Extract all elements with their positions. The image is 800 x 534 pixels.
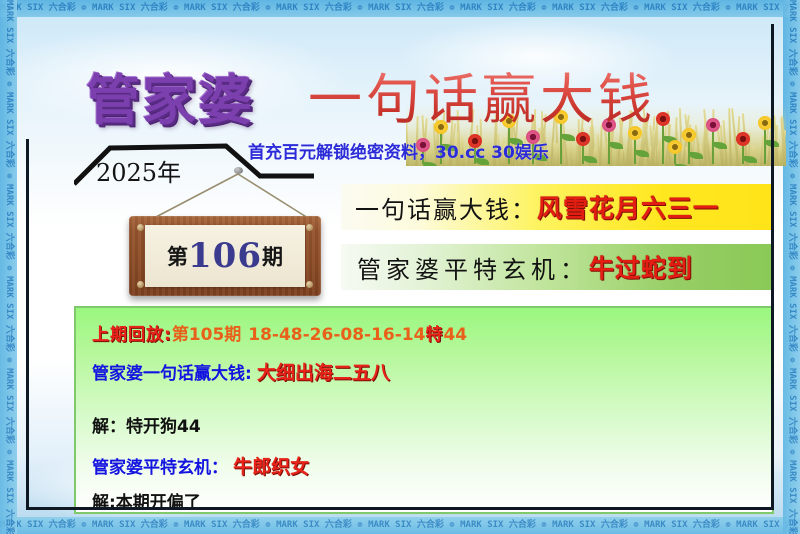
issue-number: 106 xyxy=(188,236,262,276)
main-panel: 管家婆 一句话赢大钱 首充百元解锁绝密资料，30.cc 30娱乐 2025年 第… xyxy=(26,24,774,510)
banner-1-value: 风雪花月六三一 xyxy=(537,189,719,225)
flower-icon xyxy=(656,112,670,126)
replay-special-prefix: 特 xyxy=(425,325,443,345)
wooden-sign: 第106期 xyxy=(129,216,321,296)
poster-stage: MARK SIX 六合彩 ❁ MARK SIX 六合彩 ❁ MARK SIX 六… xyxy=(0,0,800,534)
replay-special-number: 44 xyxy=(443,325,467,345)
flower-leaf xyxy=(765,140,779,147)
flower-icon xyxy=(668,140,682,154)
issue-number-display: 第106期 xyxy=(145,236,305,276)
flower-stem xyxy=(764,128,766,164)
replay-row: 上期回放:第105期 18-48-26-08-16-14特44 xyxy=(92,320,467,345)
flower-icon xyxy=(736,132,750,146)
line2-value: 大细出海二五八 xyxy=(257,362,390,384)
grass-blade xyxy=(553,142,555,166)
replay-issue: 第105期 xyxy=(172,325,242,345)
grass-blade xyxy=(556,142,558,166)
flower-icon xyxy=(758,116,772,130)
watermark-right: MARK SIX 六合彩 ❁ MARK SIX 六合彩 ❁ MARK SIX 六… xyxy=(783,0,800,534)
flower-stem xyxy=(742,144,744,164)
previous-results-box: 上期回放:第105期 18-48-26-08-16-14特44 管家婆一句话赢大… xyxy=(74,306,774,514)
banner-forecast-phrase: 一句话赢大钱： 风雪花月六三一 xyxy=(341,184,771,230)
screw-icon-tl xyxy=(137,224,144,231)
watermark-top: MARK SIX 六合彩 ❁ MARK SIX 六合彩 ❁ MARK SIX 六… xyxy=(0,0,800,17)
line4-value: 牛郎织女 xyxy=(233,456,309,478)
watermark-bottom: MARK SIX 六合彩 ❁ MARK SIX 六合彩 ❁ MARK SIX 六… xyxy=(0,517,800,534)
page-title-brand: 管家婆 xyxy=(86,56,254,135)
flower-leaf xyxy=(583,156,597,163)
banner-2-label: 管家婆平特玄机： xyxy=(341,250,589,285)
grass-blade xyxy=(569,142,573,166)
flower-stem xyxy=(608,130,610,164)
nail-icon xyxy=(234,167,243,174)
flower-stem xyxy=(662,124,664,164)
line2-label: 管家婆一句话赢大钱: xyxy=(92,364,252,384)
sign-paper: 第106期 xyxy=(145,225,305,287)
watermark-right-text: MARK SIX 六合彩 ❁ MARK SIX 六合彩 ❁ MARK SIX 六… xyxy=(783,0,800,534)
banner-1-label: 一句话赢大钱： xyxy=(341,190,537,225)
line3-text: 解：特开狗44 xyxy=(92,417,201,437)
line4-label: 管家婆平特玄机： xyxy=(92,458,228,478)
line5-text: 解:本期开偏了 xyxy=(92,493,201,513)
screw-icon-br xyxy=(306,281,313,288)
replay-numbers: 18-48-26-08-16-14 xyxy=(248,325,425,345)
flower-leaf xyxy=(713,142,727,149)
page-title-headline: 一句话赢大钱 xyxy=(308,55,656,134)
flower-leaf xyxy=(635,150,649,157)
line5-row: 解:本期开偏了 xyxy=(92,488,201,513)
screw-icon-bl xyxy=(137,281,144,288)
banner-forecast-riddle: 管家婆平特玄机： 牛过蛇到 xyxy=(341,244,771,290)
line3-row: 解：特开狗44 xyxy=(92,412,201,437)
watermark-left: MARK SIX 六合彩 ❁ MARK SIX 六合彩 ❁ MARK SIX 六… xyxy=(0,0,17,534)
replay-label: 上期回放: xyxy=(92,325,172,345)
flower-icon xyxy=(682,128,696,142)
line4-row: 管家婆平特玄机： 牛郎织女 xyxy=(92,452,309,479)
watermark-left-text: MARK SIX 六合彩 ❁ MARK SIX 六合彩 ❁ MARK SIX 六… xyxy=(0,0,17,534)
issue-prefix: 第 xyxy=(167,244,188,269)
flower-icon xyxy=(576,132,590,146)
flower-icon xyxy=(706,118,720,132)
flower-stem xyxy=(712,130,714,164)
flower-stem xyxy=(582,144,584,164)
banner-2-value: 牛过蛇到 xyxy=(589,249,693,285)
issue-suffix: 期 xyxy=(262,244,283,269)
screw-icon-tr xyxy=(306,224,313,231)
line2-row: 管家婆一句话赢大钱: 大细出海二五八 xyxy=(92,358,390,385)
